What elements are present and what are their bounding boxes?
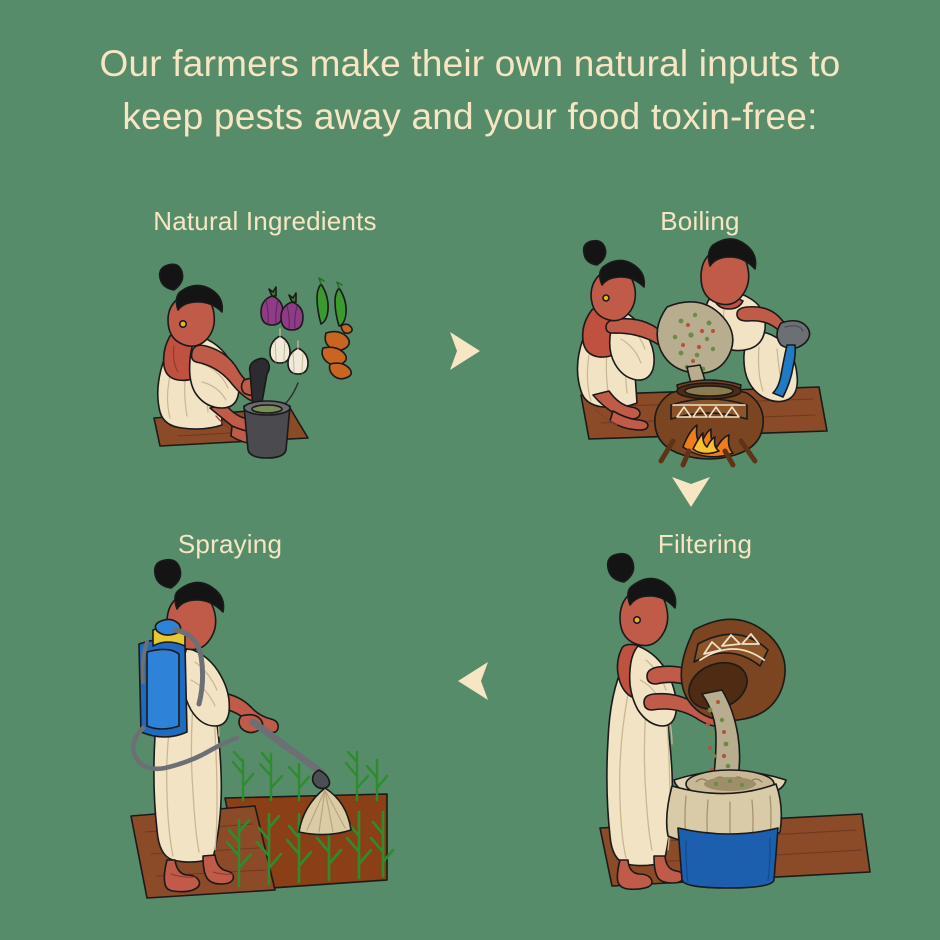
turmeric-ingredient: [322, 324, 352, 379]
onion-ingredient: [261, 287, 303, 330]
step-label-natural-ingredients: Natural Ingredients: [60, 206, 470, 237]
chilli-ingredient: [317, 278, 346, 326]
step-label-boiling: Boiling: [500, 206, 900, 237]
garlic-ingredient: [270, 329, 308, 374]
illustration-boiling: [575, 235, 830, 470]
page-title: Our farmers make their own natural input…: [0, 38, 940, 143]
arrow-left-icon: [452, 658, 494, 709]
infographic-canvas: Our farmers make their own natural input…: [0, 0, 940, 940]
headline-line-1: Our farmers make their own natural input…: [0, 38, 940, 91]
illustration-filtering: [590, 560, 875, 905]
step-label-filtering: Filtering: [500, 529, 910, 560]
illustration-natural-ingredients: [140, 240, 390, 460]
illustration-spraying: [125, 560, 390, 905]
arrow-right-icon: [444, 328, 486, 379]
arrow-down-icon: [668, 471, 714, 518]
step-label-spraying: Spraying: [40, 529, 420, 560]
headline-line-2: keep pests away and your food toxin-free…: [0, 91, 940, 144]
